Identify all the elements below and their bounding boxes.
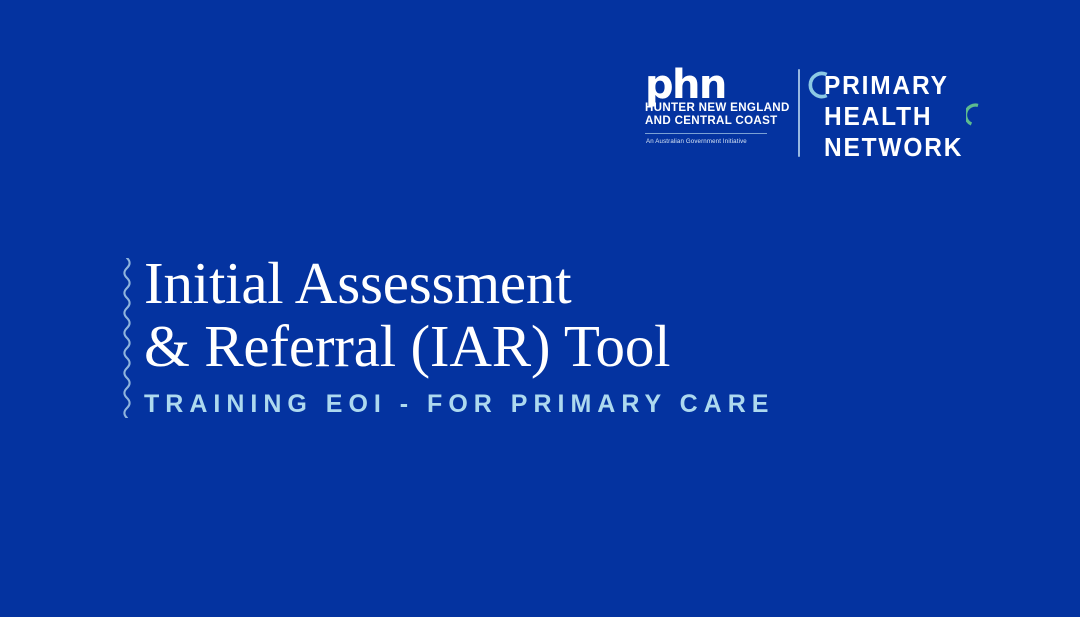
wavy-line-decoration-icon (118, 258, 136, 418)
page-title-line-2: & Referral (IAR) Tool (144, 315, 964, 378)
phn-logo-left: phn HUNTER NEW ENGLAND AND CENTRAL COAST… (643, 66, 789, 145)
phn-logo-right: PRIMARY HEALTH NETWORK (824, 66, 969, 164)
phn-region-line-2: AND CENTRAL COAST (645, 114, 780, 128)
logo-rule-divider (645, 133, 767, 134)
phn-wordmark: phn (645, 68, 789, 102)
phn-full-name-line-2: HEALTH (824, 102, 963, 133)
phn-logo-lockup[interactable]: phn HUNTER NEW ENGLAND AND CENTRAL COAST… (643, 66, 993, 166)
hero-text-block: Initial Assessment & Referral (IAR) Tool… (144, 252, 964, 419)
government-initiative-tagline: An Australian Government Initiative (646, 138, 783, 145)
banner-hero: phn HUNTER NEW ENGLAND AND CENTRAL COAST… (0, 0, 1080, 617)
page-title-line-1: Initial Assessment (144, 252, 964, 315)
phn-full-name-line-1: PRIMARY (824, 71, 963, 102)
page-subtitle: TRAINING EOI - FOR PRIMARY CARE (144, 390, 964, 419)
phn-full-name-line-3: NETWORK (824, 133, 963, 164)
logo-vertical-divider (798, 69, 800, 157)
arc-green-icon (966, 103, 990, 127)
